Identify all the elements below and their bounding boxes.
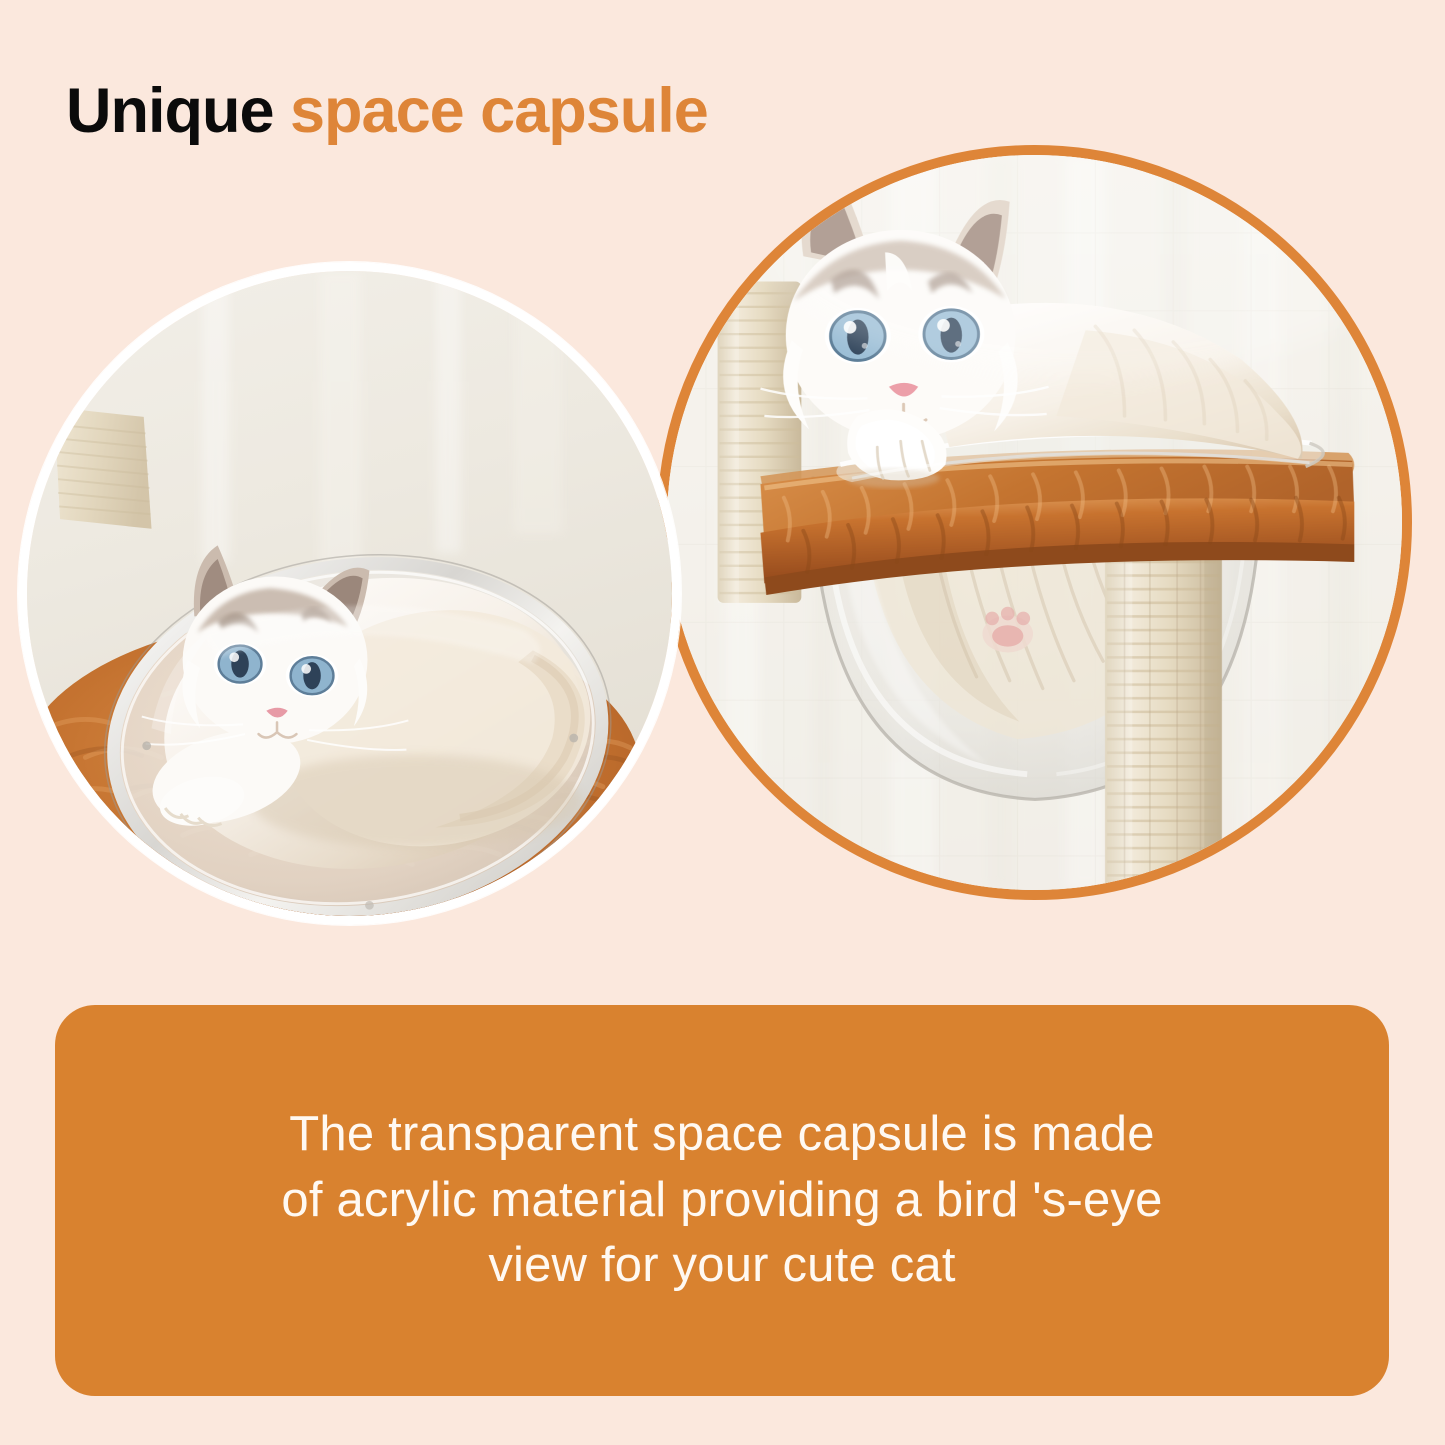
- page-title: Unique space capsule: [66, 78, 708, 144]
- screw-detail: [138, 861, 173, 882]
- headline-part-2: space capsule: [290, 76, 708, 146]
- sisal-post-front: [1105, 537, 1222, 890]
- cat-in-capsule-sideview-illustration: [667, 155, 1402, 890]
- caption-line-3: view for your cute cat: [281, 1233, 1162, 1299]
- caption-line-1: The transparent space capsule is made: [281, 1102, 1162, 1168]
- caption-line-2: of acrylic material providing a bird 's-…: [281, 1168, 1162, 1234]
- caption-banner: The transparent space capsule is made of…: [55, 1005, 1389, 1396]
- paw-pad: [982, 607, 1033, 653]
- caption-text: The transparent space capsule is made of…: [221, 1102, 1222, 1299]
- cat-in-capsule-topdown-illustration: [27, 271, 672, 916]
- product-photo-right: [657, 145, 1412, 900]
- headline-part-1: Unique: [66, 76, 274, 146]
- product-photo-left: [18, 262, 681, 925]
- cat-eye-right: [286, 654, 339, 697]
